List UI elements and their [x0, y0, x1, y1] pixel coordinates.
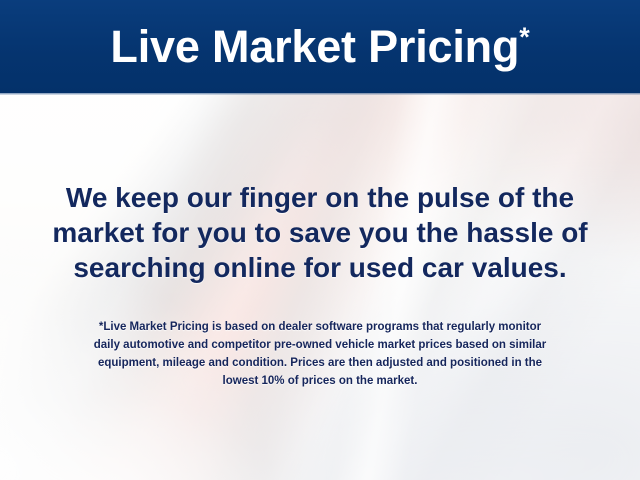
page-title: Live Market Pricing*	[110, 24, 529, 69]
headline-line-2: market for you to save you the hassle of	[0, 215, 640, 250]
headline: We keep our finger on the pulse of the m…	[0, 180, 640, 285]
disclaimer-line-2: daily automotive and competitor pre-owne…	[24, 336, 616, 354]
header-banner: Live Market Pricing*	[0, 0, 640, 93]
headline-line-3: searching online for used car values.	[0, 250, 640, 285]
disclaimer-line-4: lowest 10% of prices on the market.	[24, 372, 616, 390]
disclaimer: *Live Market Pricing is based on dealer …	[0, 318, 640, 390]
header-banner-bottom-edge	[0, 93, 640, 95]
page-title-text: Live Market Pricing	[110, 21, 519, 72]
disclaimer-line-3: equipment, mileage and condition. Prices…	[24, 354, 616, 372]
live-market-pricing-promo-card: Live Market Pricing* We keep our finger …	[0, 0, 640, 480]
headline-line-1: We keep our finger on the pulse of the	[0, 180, 640, 215]
disclaimer-line-1: *Live Market Pricing is based on dealer …	[24, 318, 616, 336]
page-title-asterisk: *	[519, 22, 529, 52]
